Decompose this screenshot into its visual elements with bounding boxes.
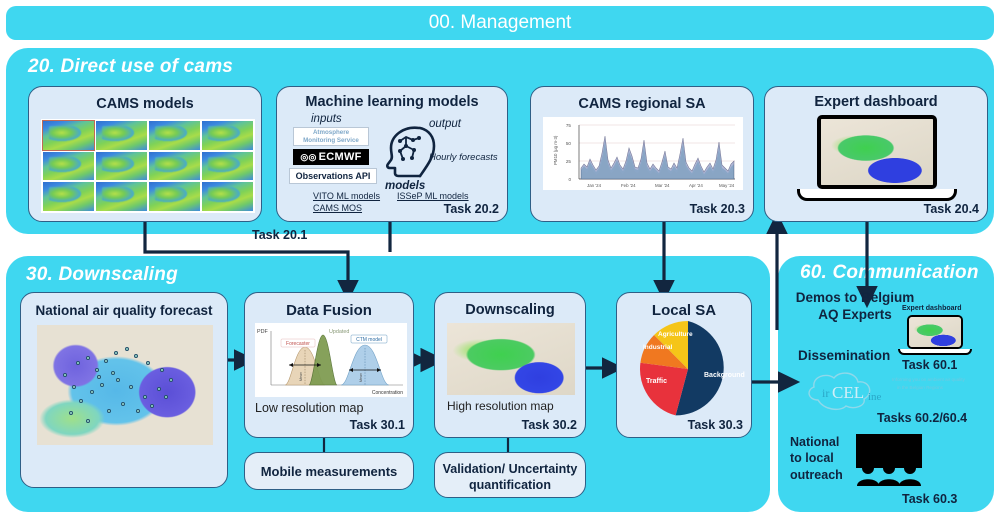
communication-laptop-base-icon xyxy=(898,349,972,355)
data-fusion-caption: Low resolution map xyxy=(255,401,363,415)
svg-text:Concentration: Concentration xyxy=(372,390,403,396)
logo-tagline-1: Informing you on ambient air quality xyxy=(892,377,965,382)
cams-models-title: CAMS models xyxy=(29,96,261,112)
cams-regional-sa-chart: 75 50 25 0 PM10 (µg m-3) Jan '24 Feb '24… xyxy=(543,117,743,190)
card-cams-regional-sa[interactable]: CAMS regional SA 75 50 25 0 PM10 (µg m-3… xyxy=(530,86,754,222)
card-downscaling[interactable]: Downscaling High resolution map Task 30.… xyxy=(434,292,586,438)
cams-mini-map[interactable] xyxy=(149,121,200,150)
curve-label-ctm-model: CTM model xyxy=(351,335,387,343)
svg-text:Mean: Mean xyxy=(359,373,363,382)
svg-text:Mar '24: Mar '24 xyxy=(655,183,670,188)
laptop-base-icon xyxy=(797,189,957,201)
timeseries-svg: 75 50 25 0 PM10 (µg m-3) Jan '24 Feb '24… xyxy=(543,117,743,190)
svg-text:Updated: Updated xyxy=(329,329,349,335)
card-local-sa[interactable]: Local SA Background Traffic Industrial A… xyxy=(616,292,752,438)
svg-text:Traffic: Traffic xyxy=(646,378,667,385)
cams-regional-sa-title: CAMS regional SA xyxy=(531,96,753,112)
cams-mini-map[interactable] xyxy=(202,152,253,181)
station-dot xyxy=(104,359,108,363)
station-dot xyxy=(90,390,94,394)
svg-text:Forecaster: Forecaster xyxy=(286,341,310,347)
demos-line-1: Demos to Belgium xyxy=(790,290,920,307)
logo-ir: ir xyxy=(822,386,829,400)
curve-label-forecaster: Forecaster xyxy=(281,339,315,347)
badge-ecmwf-text: ECMWF xyxy=(319,151,362,163)
svg-text:Apr '24: Apr '24 xyxy=(689,183,703,188)
task-30-3-label: Task 30.3 xyxy=(688,418,743,432)
cams-mini-map[interactable] xyxy=(96,152,147,181)
cams-mini-map[interactable] xyxy=(149,152,200,181)
ml-hourly-forecasts-label: Hourly forecasts xyxy=(429,152,498,163)
task-20-3-label: Task 20.3 xyxy=(690,202,745,216)
card-data-fusion[interactable]: Data Fusion PDF Mean Mean Forecaste xyxy=(244,292,414,438)
cams-mini-map[interactable] xyxy=(96,182,147,211)
station-dot xyxy=(86,419,90,423)
brain-head-icon xyxy=(379,121,437,179)
station-dot xyxy=(169,378,173,382)
svg-text:PDF: PDF xyxy=(257,329,268,335)
svg-text:Agriculture: Agriculture xyxy=(658,331,693,338)
station-dot xyxy=(129,385,133,389)
card-validation-uncertainty[interactable]: Validation/ Uncertainty quantification xyxy=(434,452,586,498)
section-communication-label: 60. Communication xyxy=(800,262,979,284)
outreach-line-2: to local xyxy=(790,450,846,466)
link-issep-ml-models[interactable]: ISSeP ML models xyxy=(397,191,469,201)
card-machine-learning-models[interactable]: Machine learning models inputs output mo… xyxy=(276,86,508,222)
cams-mini-map[interactable] xyxy=(43,152,94,181)
downscaling-title: Downscaling xyxy=(435,302,585,318)
communication-dissemination-heading: Dissemination xyxy=(798,348,890,363)
laptop-screen-icon xyxy=(817,115,937,189)
communication-belgium-thumbnail xyxy=(909,317,961,347)
downscaling-caption: High resolution map xyxy=(447,399,554,413)
station-dot xyxy=(125,347,129,351)
task-60-3-label: Task 60.3 xyxy=(902,492,957,506)
data-fusion-pdf-chart: PDF Mean Mean Forecaster Updated xyxy=(255,323,407,397)
badge-ecmwf: ◎◎ ECMWF xyxy=(293,149,369,165)
badge-cams-atmosphere-monitoring-service: Atmosphere Monitoring Service xyxy=(293,127,369,146)
belgium-high-res-surface xyxy=(447,323,575,395)
ml-inputs-label: inputs xyxy=(311,113,342,125)
station-dot xyxy=(164,395,168,399)
station-dot xyxy=(150,404,154,408)
card-cams-models[interactable]: CAMS models xyxy=(28,86,262,222)
logo-ine: ine xyxy=(868,391,882,403)
station-dot xyxy=(76,361,80,365)
svg-text:Jan '24: Jan '24 xyxy=(587,183,602,188)
cams-mini-map[interactable] xyxy=(43,182,94,211)
svg-text:0: 0 xyxy=(568,177,571,182)
svg-text:Industrial: Industrial xyxy=(643,344,672,351)
diagram-canvas: 00. Management 20. Direct use of cams 30… xyxy=(0,0,1000,518)
national-forecast-map xyxy=(37,325,213,445)
pdf-chart-svg: PDF Mean Mean Forecaster Updated xyxy=(255,323,407,397)
station-dot xyxy=(136,409,140,413)
task-20-2-label: Task 20.2 xyxy=(444,202,499,216)
cams-mini-map[interactable] xyxy=(149,182,200,211)
cams-mini-map[interactable] xyxy=(202,121,253,150)
svg-text:Background: Background xyxy=(704,372,745,379)
svg-text:May '24: May '24 xyxy=(719,183,735,188)
section-direct-use-label: 20. Direct use of cams xyxy=(28,56,233,78)
svg-text:75: 75 xyxy=(566,123,572,128)
station-dot xyxy=(143,395,147,399)
task-30-1-label: Task 30.1 xyxy=(350,418,405,432)
outreach-heading: National to local outreach xyxy=(790,434,846,483)
svg-text:Feb '24: Feb '24 xyxy=(621,183,636,188)
cams-mini-map[interactable] xyxy=(96,121,147,150)
card-expert-dashboard[interactable]: Expert dashboard Task 20.4 xyxy=(764,86,988,222)
badge-observations-api-text: Observations API xyxy=(296,171,371,181)
high-resolution-map xyxy=(447,323,575,395)
ml-models-title: Machine learning models xyxy=(277,94,507,110)
svg-text:25: 25 xyxy=(566,159,572,164)
communication-laptop-screen-icon xyxy=(907,315,963,349)
card-mobile-measurements[interactable]: Mobile measurements xyxy=(244,452,414,490)
cams-model-map-grid xyxy=(41,119,255,213)
belgium-map-thumbnail xyxy=(821,119,933,185)
local-sa-pie-chart: Background Traffic Industrial Agricultur… xyxy=(625,317,751,421)
badge-cams-line1: Atmosphere xyxy=(313,129,349,136)
communication-demos-heading: Demos to Belgium AQ Experts xyxy=(790,290,920,324)
svg-text:PM10 (µg m-3): PM10 (µg m-3) xyxy=(553,135,558,165)
card-national-air-quality-forecast[interactable]: National air quality forecast xyxy=(20,292,228,488)
national-forecast-title: National air quality forecast xyxy=(21,303,227,318)
station-dot xyxy=(111,371,115,375)
outreach-line-1: National xyxy=(790,434,846,450)
validation-title: Validation/ Uncertainty quantification xyxy=(435,462,585,493)
tasks-60-2-60-4-label: Tasks 60.2/60.4 xyxy=(877,411,967,425)
svg-text:50: 50 xyxy=(566,141,572,146)
station-dot xyxy=(134,354,138,358)
communication-dashboard-caption: Expert dashboard xyxy=(902,305,962,312)
data-fusion-title: Data Fusion xyxy=(245,302,413,319)
audience-presentation-icon xyxy=(852,434,930,490)
section-downscaling-label: 30. Downscaling xyxy=(26,264,178,286)
concentration-surface xyxy=(37,325,213,445)
link-cams-mos[interactable]: CAMS MOS xyxy=(313,203,362,213)
management-band: 00. Management xyxy=(6,6,994,40)
svg-text:Mean: Mean xyxy=(299,372,303,381)
cams-mini-map[interactable] xyxy=(43,121,94,150)
expert-dashboard-title: Expert dashboard xyxy=(765,94,987,110)
station-dot xyxy=(116,378,120,382)
demos-line-2: AQ Experts xyxy=(790,307,920,324)
outreach-line-3: outreach xyxy=(790,467,846,483)
badge-cams-line2: Monitoring Service xyxy=(303,137,359,144)
svg-text:CTM model: CTM model xyxy=(356,337,382,343)
badge-observations-api: Observations API xyxy=(289,168,377,184)
link-vito-ml-models[interactable]: VITO ML models xyxy=(313,191,380,201)
logo-cel: CEL xyxy=(832,383,864,402)
mobile-measurements-title: Mobile measurements xyxy=(245,464,413,479)
task-20-4-label: Task 20.4 xyxy=(924,202,979,216)
irceline-logo: ir CEL ine Informing you on ambient air … xyxy=(796,364,996,418)
task-30-2-label: Task 30.2 xyxy=(522,418,577,432)
management-label: 00. Management xyxy=(429,12,572,34)
logo-tagline-2: in the Belgian Regions xyxy=(897,385,944,390)
task-20-1-label: Task 20.1 xyxy=(252,228,307,242)
cams-mini-map[interactable] xyxy=(202,182,253,211)
